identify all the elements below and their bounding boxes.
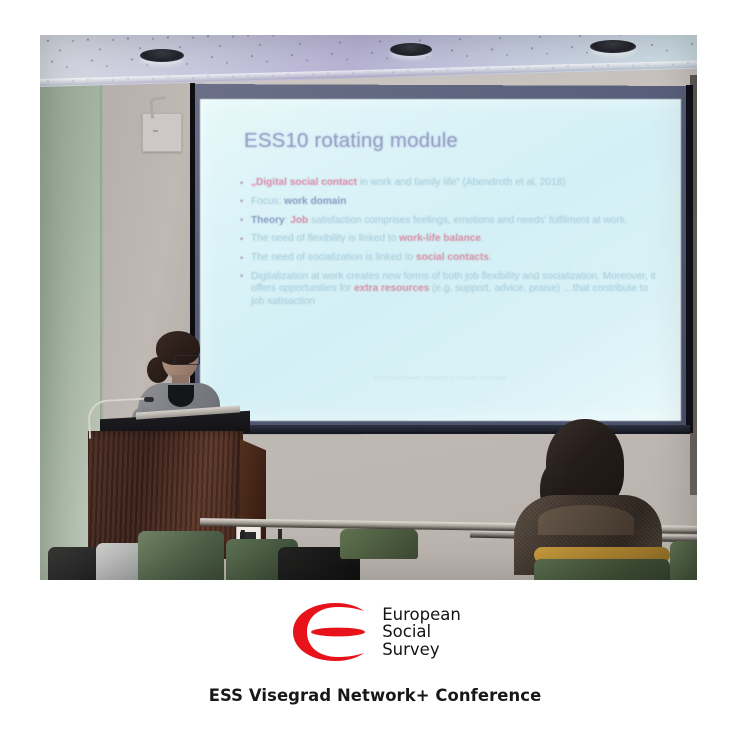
slide-bullet: The need of socialization is linked to s…: [240, 252, 660, 264]
microphone-gooseneck-icon: [87, 397, 151, 438]
slide-text-run: in work and family life“ (Abendroth et a…: [357, 177, 566, 188]
slide-bullet-list: „Digital social contact in work and fami…: [240, 177, 660, 315]
presenter-glasses-icon: [174, 355, 200, 365]
chair: [534, 559, 670, 580]
ess-logo: European Social Survey: [0, 601, 750, 663]
slide-text-run: .: [489, 252, 492, 263]
chair: [670, 541, 697, 580]
projection-screen-bottom-rail: [190, 425, 690, 434]
slide-text-run: work-life balance: [399, 233, 481, 244]
slide-bullet: Digitalization at work creates new forms…: [240, 271, 660, 308]
page-root: ESS10 rotating module „Digital social co…: [0, 0, 750, 750]
slide-text-run: Theory: [251, 215, 285, 226]
ess-logo-line-2: Social: [382, 623, 461, 641]
chair: [138, 531, 224, 580]
microphone-head-icon: [144, 397, 154, 402]
slide-text-run: Job: [290, 215, 308, 226]
slide-text-run: satisfaction comprises feelings, emotion…: [308, 215, 627, 226]
wall-control-panel: [142, 113, 182, 152]
slide-footer: ESS Visegrad Network+ Conference, 13-14 …: [374, 375, 506, 380]
presentation-slide: ESS10 rotating module „Digital social co…: [200, 99, 681, 421]
ceiling-speaker-icon: [140, 49, 184, 62]
ceiling-speaker-icon: [590, 40, 636, 53]
chair: [340, 529, 418, 559]
ess-logo-line-3: Survey: [382, 641, 461, 659]
slide-text-run: The need of flexibility is linked to: [251, 233, 399, 244]
ess-logo-mark-icon: [289, 601, 371, 663]
ess-logo-wordmark: European Social Survey: [382, 606, 461, 659]
slide-text-run: extra resources: [354, 283, 429, 294]
attendee-collar: [538, 505, 634, 535]
wall-control-panel-indicator: [153, 130, 158, 132]
slide-text-run: work domain: [284, 196, 346, 207]
photo-caption: ESS Visegrad Network+ Conference: [0, 686, 750, 705]
slide-text-run: „Digital social contact: [251, 177, 357, 188]
slide-bullet: Focus: work domain: [240, 196, 660, 208]
presenter-collar: [168, 385, 194, 407]
slide-text-run: social contacts: [416, 252, 489, 263]
conference-photo: ESS10 rotating module „Digital social co…: [40, 35, 697, 580]
wall-bracket: [149, 96, 168, 119]
slide-bullet: „Digital social contact in work and fami…: [240, 177, 660, 189]
ceiling-speaker-icon: [390, 43, 432, 56]
slide-text-run: Focus:: [251, 196, 284, 207]
slide-title: ESS10 rotating module: [244, 129, 458, 153]
projection-screen-right-rail: [686, 85, 693, 433]
slide-text-run: The need of socialization is linked to: [251, 252, 416, 263]
slide-bullet: The need of flexibility is linked to wor…: [240, 233, 660, 245]
slide-bullet: Theory: Job satisfaction comprises feeli…: [240, 215, 660, 227]
ess-logo-line-1: European: [382, 606, 461, 624]
slide-text-run: .: [481, 233, 484, 244]
